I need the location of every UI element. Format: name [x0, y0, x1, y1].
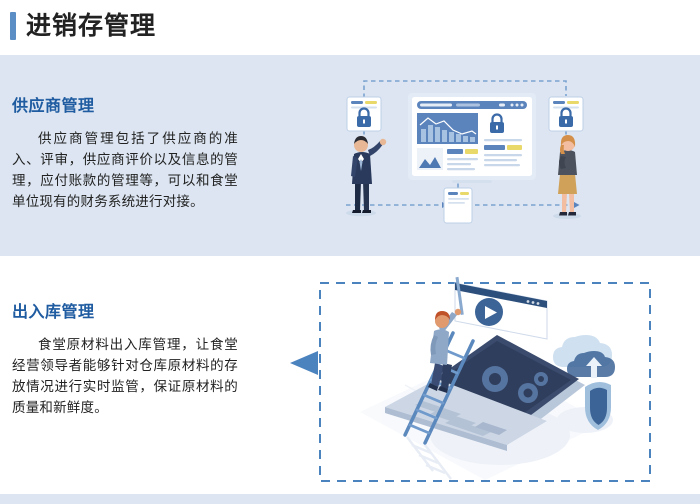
section-2-heading: 出入库管理: [12, 298, 95, 322]
warehouse-laptop-illustration: [285, 275, 660, 490]
dashboard-screen: [408, 93, 536, 183]
video-screen: [455, 277, 547, 339]
section-1-heading: 供应商管理: [12, 92, 95, 116]
footer-strip: [0, 494, 700, 504]
title-accent-bar: [10, 12, 16, 40]
locked-document-left: [347, 97, 381, 131]
triangle-pointer: [290, 351, 318, 375]
supplier-network-illustration: [320, 68, 610, 250]
plain-document-bottom: [444, 188, 472, 223]
page-header: 进销存管理: [0, 0, 700, 55]
page-root: 进销存管理 供应商管理 供应商管理包括了供应商的准入、评审，供应商评价以及信息的…: [0, 0, 700, 504]
locked-document-right: [549, 97, 583, 131]
section-2-body: 食堂原材料出入库管理，让食堂经营领导者能够针对仓库原材料的存放情况进行实时监管，…: [12, 334, 238, 418]
businessman-figure: [346, 136, 386, 216]
section-1-body: 供应商管理包括了供应商的准入、评审，供应商评价以及信息的管理，应付账款的管理等，…: [12, 128, 238, 212]
page-title: 进销存管理: [26, 11, 156, 41]
